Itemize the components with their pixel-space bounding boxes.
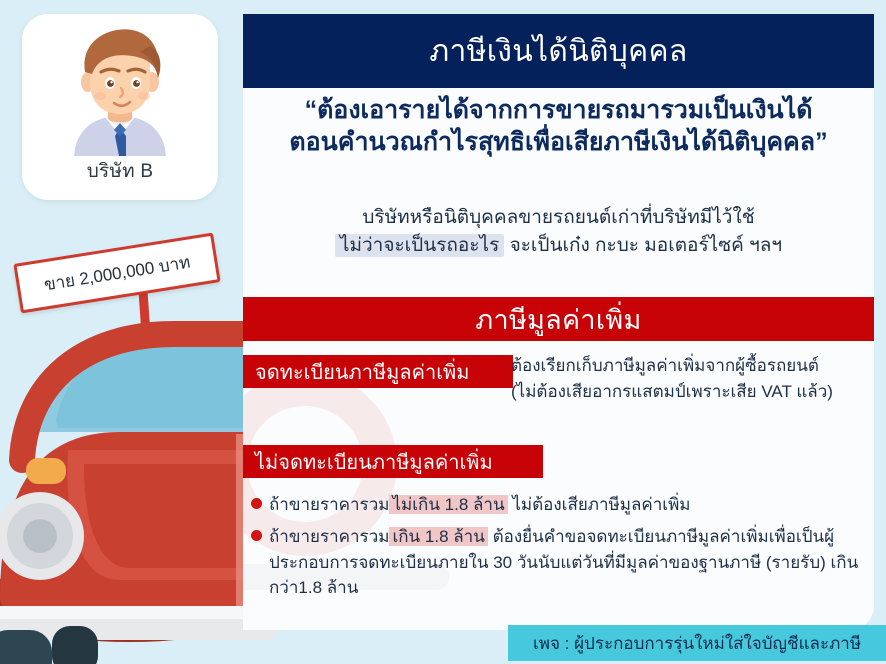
- bullet-highlight: ไม่เกิน 1.8 ล้าน: [389, 495, 507, 514]
- quote-line-1: “ต้องเอารายได้จากการขายรถมารวมเป็นเงินได…: [243, 94, 874, 126]
- vat-banner: ภาษีมูลค่าเพิ่ม: [243, 297, 874, 341]
- corporate-tax-banner: ภาษีเงินได้นิติบุคคล: [243, 14, 874, 88]
- infographic-canvas: บริษัท B ขาย 2,000,000 บาท: [0, 0, 886, 664]
- corporate-tax-title: ภาษีเงินได้นิติบุคคล: [429, 28, 687, 75]
- subtext-line-1: บริษัทหรือนิติบุคคลขายรถยนต์เก่าที่บริษั…: [243, 204, 874, 232]
- list-item: ถ้าขายราคารวมไม่เกิน 1.8 ล้าน ไม่ต้องเสี…: [249, 492, 865, 518]
- subtext-highlight: ไม่ว่าจะเป็นรถอะไร: [335, 234, 504, 257]
- content-panel: ภาษีเงินได้นิติบุคคล “ต้องเอารายได้จากกา…: [243, 14, 874, 630]
- subtext-block: บริษัทหรือนิติบุคคลขายรถยนต์เก่าที่บริษั…: [243, 204, 874, 259]
- vat-registered-tag: จดทะเบียนภาษีมูลค่าเพิ่ม: [243, 355, 513, 388]
- vat-nonregistered-tag-label: ไม่จดทะเบียนภาษีมูลค่าเพิ่ม: [255, 446, 493, 478]
- bullet-pre: ถ้าขายราคารวม: [269, 495, 389, 514]
- sign-text: ขาย 2,000,000 บาท: [42, 248, 192, 298]
- vat-nonregistered-bullets: ถ้าขายราคารวมไม่เกิน 1.8 ล้าน ไม่ต้องเสี…: [249, 492, 865, 607]
- bullet-pre: ถ้าขายราคารวม: [269, 527, 389, 546]
- vat-registered-body: ต้องเรียกเก็บภาษีมูลค่าเพิ่มจากผู้ซื้อรถ…: [511, 353, 863, 406]
- bullet-post: ไม่ต้องเสียภาษีมูลค่าเพิ่ม: [508, 495, 691, 514]
- red-beetle-car-icon: [0, 300, 280, 664]
- vat-registered-tag-label: จดทะเบียนภาษีมูลค่าเพิ่ม: [255, 356, 469, 388]
- subtext-rest: จะเป็นเก๋ง กะบะ มอเตอร์ไซค์ ฯลฯ: [510, 235, 783, 256]
- bullet-dot-icon: [251, 498, 262, 509]
- bullet-dot-icon: [251, 530, 262, 541]
- footer-credit-text: เพจ : ผู้ประกอบการรุ่นใหม่ใส่ใจบัญชีและภ…: [533, 630, 861, 657]
- vat-title: ภาษีมูลค่าเพิ่ม: [475, 298, 641, 341]
- price-sign: ขาย 2,000,000 บาท: [8, 240, 224, 304]
- quote-line-2: ตอนคำนวณกำไรสุทธิเพื่อเสียภาษีเงินได้นิต…: [243, 126, 874, 158]
- list-item: ถ้าขายราคารวมเกิน 1.8 ล้าน ต้องยื่นคำขอจ…: [249, 524, 865, 601]
- subtext-line-2: ไม่ว่าจะเป็นรถอะไร จะเป็นเก๋ง กะบะ มอเตอ…: [243, 232, 874, 260]
- quote-block: “ต้องเอารายได้จากการขายรถมารวมเป็นเงินได…: [243, 94, 874, 158]
- vat-nonregistered-tag: ไม่จดทะเบียนภาษีมูลค่าเพิ่ม: [243, 445, 543, 478]
- company-avatar-card: บริษัท B: [22, 14, 218, 200]
- businessman-avatar-icon: [22, 20, 218, 156]
- vat-registered-body-line-1: ต้องเรียกเก็บภาษีมูลค่าเพิ่มจากผู้ซื้อรถ…: [511, 353, 863, 379]
- footer-credit: เพจ : ผู้ประกอบการรุ่นใหม่ใส่ใจบัญชีและภ…: [508, 625, 886, 661]
- vat-registered-body-line-2: (ไม่ต้องเสียอากรแสตมป์เพราะเสีย VAT แล้ว…: [511, 379, 863, 405]
- bullet-highlight: เกิน 1.8 ล้าน: [389, 527, 487, 546]
- avatar-label: บริษัท B: [22, 156, 218, 186]
